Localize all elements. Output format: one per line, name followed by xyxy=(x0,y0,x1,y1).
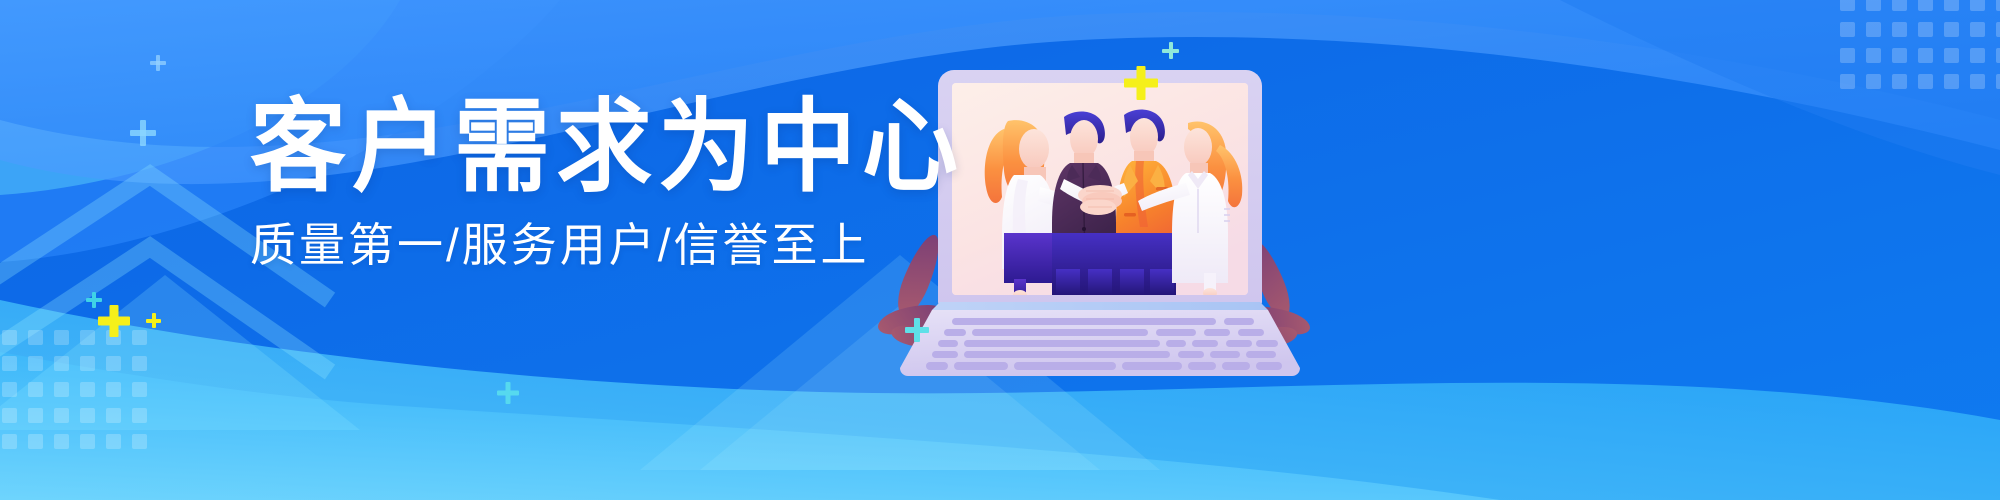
plus-cyan-soft-upper-icon xyxy=(150,55,166,71)
plus-yellow-tiny-bottom-icon xyxy=(146,313,161,328)
team-handshake-illustration xyxy=(952,83,1248,295)
plus-cyan-laptop-left-icon xyxy=(905,318,929,342)
dot-grid-top-right xyxy=(1840,0,2000,106)
page-title: 客户需求为中心 xyxy=(250,96,870,198)
promo-banner: 客户需求为中心 质量第一/服务用户/信誉至上 xyxy=(0,0,2000,500)
keyboard-shape xyxy=(900,302,1300,376)
plus-yellow-large-bottom-icon xyxy=(98,305,130,337)
page-subtitle: 质量第一/服务用户/信誉至上 xyxy=(250,222,870,268)
plus-cyan-soft-lower-icon xyxy=(130,120,156,146)
dot-grid-bottom-left xyxy=(0,330,190,470)
headline-block: 客户需求为中心 质量第一/服务用户/信誉至上 xyxy=(250,96,870,268)
laptop-screen xyxy=(952,83,1248,295)
plus-cyan-small-top-icon xyxy=(1162,42,1179,59)
laptop-keyboard-base xyxy=(900,302,1300,376)
plus-cyan-mid-icon xyxy=(497,382,519,404)
plus-yellow-large-top-icon xyxy=(1124,66,1158,100)
plus-cyan-small-bottom-icon xyxy=(86,292,102,308)
